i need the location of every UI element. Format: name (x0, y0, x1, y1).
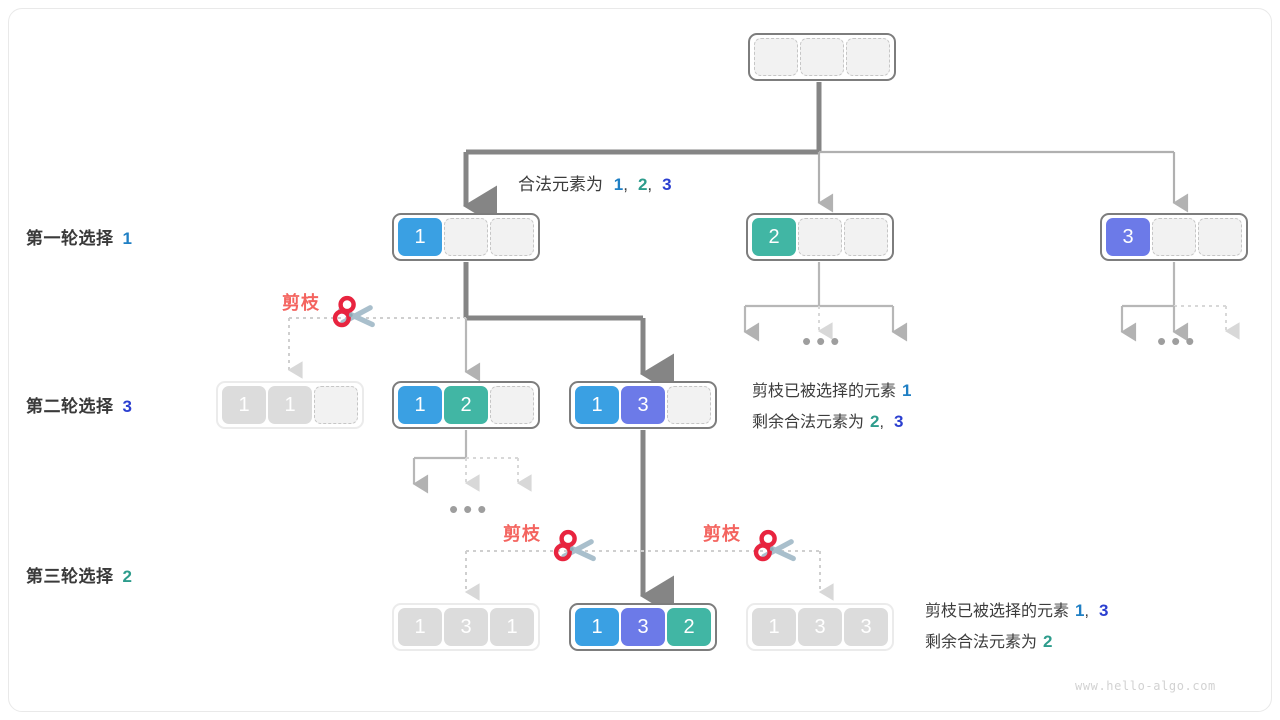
node-1-3-2-cell-3: 2 (667, 608, 711, 646)
node-1-2-cell-1: 1 (398, 386, 442, 424)
node-1-3-cell-2: 3 (621, 386, 665, 424)
prune-label-2: 剪枝 (503, 520, 541, 546)
node-2: 2 (746, 213, 894, 261)
separator: , (1084, 603, 1088, 620)
legend-row-2-line1-text: 剪枝已被选择的元素 (752, 383, 896, 400)
node-1-3-3-cell-2: 3 (798, 608, 842, 646)
row-label-1-value: 1 (123, 229, 133, 248)
value-2: 2 (1043, 632, 1052, 651)
node-2-cell-1: 2 (752, 218, 796, 256)
ellipsis-under-node2: ••• (802, 328, 844, 354)
node-1-cell-3 (490, 218, 534, 256)
legend-row-3-line1-text: 剪枝已被选择的元素 (925, 603, 1069, 620)
prune-label-1: 剪枝 (282, 289, 320, 315)
legend-row-2-line1: 剪枝已被选择的元素1 (752, 376, 911, 407)
node-1-3-1-cell-2: 3 (444, 608, 488, 646)
node-1-1-cell-1: 1 (222, 386, 266, 424)
node-1: 1 (392, 213, 540, 261)
row-label-1: 第一轮选择1 (26, 224, 132, 249)
row-label-3-text: 第三轮选择 (26, 567, 114, 586)
prune-label-1-text: 剪枝 (282, 293, 320, 313)
node-1-cell-1: 1 (398, 218, 442, 256)
node-1-3-1-cell-3: 1 (490, 608, 534, 646)
node-1-3-3-cell-1: 1 (752, 608, 796, 646)
node-1-3-2-cell-2: 3 (621, 608, 665, 646)
value-3: 3 (662, 175, 671, 194)
value-1: 1 (614, 175, 623, 194)
value-3: 3 (894, 412, 903, 431)
node-1-3-cell-3 (667, 386, 711, 424)
node-root-cell-3 (846, 38, 890, 76)
node-1-1-cell-2: 1 (268, 386, 312, 424)
node-2-cell-3 (844, 218, 888, 256)
legend-row-2-line2: 剩余合法元素为2,3 (752, 407, 911, 438)
node-3: 3 (1100, 213, 1248, 261)
row-label-2-text: 第二轮选择 (26, 397, 114, 416)
node-1-3-cell-1: 1 (575, 386, 619, 424)
node-1-3: 13 (569, 381, 717, 429)
node-1-1: 11 (216, 381, 364, 429)
legend-row-3-line2-text: 剩余合法元素为 (925, 634, 1037, 651)
node-root (748, 33, 896, 81)
legend-row-3: 剪枝已被选择的元素1,3剩余合法元素为2 (925, 596, 1108, 658)
ellipsis-under-node12: ••• (449, 496, 491, 522)
legend-row-2: 剪枝已被选择的元素1剩余合法元素为2,3 (752, 376, 911, 438)
node-1-2: 12 (392, 381, 540, 429)
separator: , (879, 414, 883, 431)
row-label-1-text: 第一轮选择 (26, 229, 114, 248)
separator: , (623, 175, 628, 194)
row-label-2-value: 3 (123, 397, 133, 416)
row-label-3: 第三轮选择2 (26, 562, 132, 587)
node-1-3-1: 131 (392, 603, 540, 651)
legend-row-3-line2: 剩余合法元素为2 (925, 627, 1108, 658)
value-1: 1 (902, 381, 911, 400)
node-root-cell-1 (754, 38, 798, 76)
node-1-cell-2 (444, 218, 488, 256)
ellipsis-under-node3: ••• (1157, 328, 1199, 354)
node-3-cell-2 (1152, 218, 1196, 256)
node-1-3-2: 132 (569, 603, 717, 651)
node-2-cell-2 (798, 218, 842, 256)
prune-label-3: 剪枝 (703, 520, 741, 546)
node-1-2-cell-2: 2 (444, 386, 488, 424)
node-3-cell-1: 3 (1106, 218, 1150, 256)
node-1-3-1-cell-1: 1 (398, 608, 442, 646)
caption-valid-elements: 合法元素为 1,2,3 (518, 170, 672, 195)
prune-label-3-text: 剪枝 (703, 524, 741, 544)
row-label-3-value: 2 (123, 567, 133, 586)
node-1-1-cell-3 (314, 386, 358, 424)
node-1-2-cell-3 (490, 386, 534, 424)
value-3: 3 (1099, 601, 1108, 620)
node-3-cell-3 (1198, 218, 1242, 256)
row-label-2: 第二轮选择3 (26, 392, 132, 417)
legend-row-2-line2-text: 剩余合法元素为 (752, 414, 864, 431)
separator: , (647, 175, 652, 194)
node-1-3-2-cell-1: 1 (575, 608, 619, 646)
node-1-3-3: 133 (746, 603, 894, 651)
node-root-cell-2 (800, 38, 844, 76)
caption-valid-elements-items: 1,2,3 (608, 175, 672, 194)
caption-valid-elements-text: 合法元素为 (518, 175, 603, 194)
prune-label-2-text: 剪枝 (503, 524, 541, 544)
watermark: www.hello-algo.com (1075, 679, 1216, 693)
legend-row-3-line1: 剪枝已被选择的元素1,3 (925, 596, 1108, 627)
diagram-canvas: 第一轮选择1 第二轮选择3 第三轮选择2 合法元素为 1,2,3 剪枝已被选择的… (0, 0, 1280, 720)
value-2: 2 (638, 175, 647, 194)
node-1-3-3-cell-3: 3 (844, 608, 888, 646)
